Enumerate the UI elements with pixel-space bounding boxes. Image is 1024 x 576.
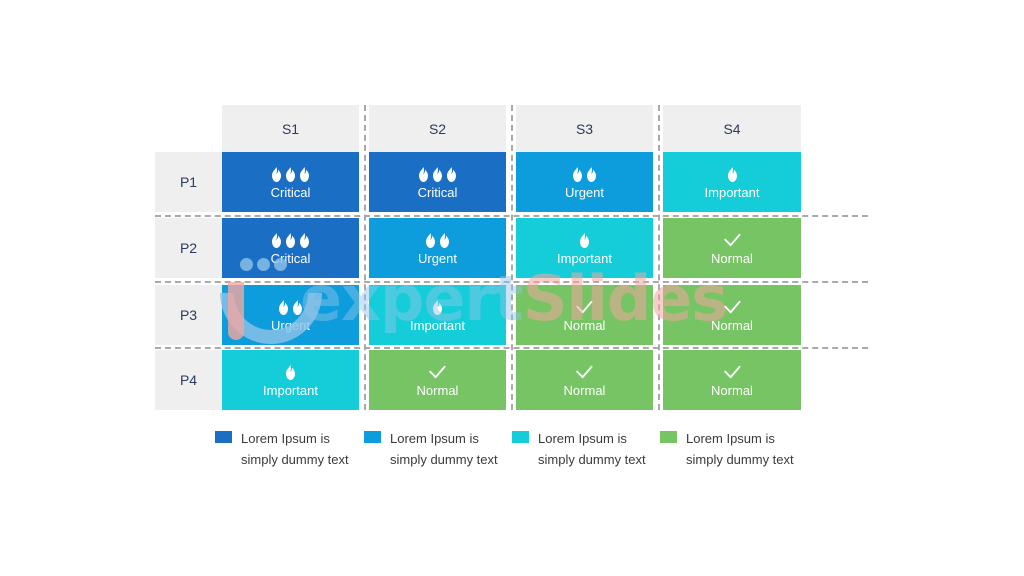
cell-label: Critical	[271, 251, 311, 266]
matrix-cell-p4-s3[interactable]: Normal	[516, 350, 653, 410]
flame-icon-group	[279, 298, 302, 315]
flame-icon	[286, 233, 295, 248]
legend: Lorem Ipsum is simply dummy text Lorem I…	[215, 428, 835, 488]
column-header-s2: S2	[369, 105, 506, 152]
column-header-s3: S3	[516, 105, 653, 152]
cell-label: Important	[705, 185, 760, 200]
cell-label: Urgent	[565, 185, 604, 200]
matrix-cell-p2-s3[interactable]: Important	[516, 218, 653, 278]
cell-label: Urgent	[418, 251, 457, 266]
row-header-p3: P3	[155, 285, 222, 345]
cell-label: Normal	[711, 251, 753, 266]
legend-label: Lorem Ipsum is simply dummy text	[241, 428, 349, 470]
flame-icon	[573, 167, 582, 182]
cell-label: Normal	[564, 383, 606, 398]
flame-icon	[286, 167, 295, 182]
matrix-cell-p3-s4[interactable]: Normal	[663, 285, 801, 345]
flame-icon-group	[580, 231, 589, 248]
flame-icon-group	[419, 165, 456, 182]
flame-icon	[272, 167, 281, 182]
flame-icon	[279, 300, 288, 315]
flame-icon	[580, 233, 589, 248]
matrix-cell-p1-s1[interactable]: Critical	[222, 152, 359, 212]
check-icon	[724, 365, 741, 380]
legend-label: Lorem Ipsum is simply dummy text	[686, 428, 794, 470]
legend-swatch-icon	[512, 431, 529, 443]
legend-item-important[interactable]: Lorem Ipsum is simply dummy text	[512, 428, 646, 470]
flame-icon-group	[728, 165, 737, 182]
legend-item-critical[interactable]: Lorem Ipsum is simply dummy text	[215, 428, 349, 470]
check-icon	[576, 300, 593, 315]
cell-label: Urgent	[271, 318, 310, 333]
matrix-cell-p1-s2[interactable]: Critical	[369, 152, 506, 212]
check-icon-group	[724, 231, 741, 248]
flame-icon-group	[286, 363, 295, 380]
matrix-cell-p1-s4[interactable]: Important	[663, 152, 801, 212]
flame-icon	[447, 167, 456, 182]
row-header-p1: P1	[155, 152, 222, 212]
cell-label: Normal	[711, 318, 753, 333]
matrix-cell-p2-s4[interactable]: Normal	[663, 218, 801, 278]
flame-icon	[433, 300, 442, 315]
row-header-p4: P4	[155, 350, 222, 410]
row-header-p2: P2	[155, 218, 222, 278]
flame-icon	[272, 233, 281, 248]
legend-swatch-icon	[364, 431, 381, 443]
cell-label: Critical	[271, 185, 311, 200]
check-icon-group	[724, 363, 741, 380]
legend-swatch-icon	[660, 431, 677, 443]
cell-label: Normal	[417, 383, 459, 398]
matrix-cell-p4-s1[interactable]: Important	[222, 350, 359, 410]
check-icon	[429, 365, 446, 380]
cell-label: Important	[263, 383, 318, 398]
cell-label: Normal	[711, 383, 753, 398]
flame-icon-group	[272, 231, 309, 248]
flame-icon	[293, 300, 302, 315]
legend-swatch-icon	[215, 431, 232, 443]
column-separator-s2-s3	[511, 105, 513, 410]
flame-icon	[433, 167, 442, 182]
matrix-cell-p3-s3[interactable]: Normal	[516, 285, 653, 345]
matrix-cell-p1-s3[interactable]: Urgent	[516, 152, 653, 212]
priority-severity-matrix: S1 S2 S3 S4 P1 P2 P3 P4 Critical Critica…	[0, 0, 1024, 576]
flame-icon	[587, 167, 596, 182]
legend-label: Lorem Ipsum is simply dummy text	[390, 428, 498, 470]
matrix-cell-p4-s2[interactable]: Normal	[369, 350, 506, 410]
column-header-s4: S4	[663, 105, 801, 152]
flame-icon	[300, 167, 309, 182]
matrix-cell-p2-s1[interactable]: Critical	[222, 218, 359, 278]
check-icon	[576, 365, 593, 380]
flame-icon-group	[573, 165, 596, 182]
column-separator-s1-s2	[364, 105, 366, 410]
matrix-cell-p3-s2[interactable]: Important	[369, 285, 506, 345]
flame-icon	[426, 233, 435, 248]
check-icon	[724, 300, 741, 315]
column-separator-s3-s4	[658, 105, 660, 410]
flame-icon-group	[426, 231, 449, 248]
flame-icon	[286, 365, 295, 380]
flame-icon-group	[433, 298, 442, 315]
matrix-cell-p2-s2[interactable]: Urgent	[369, 218, 506, 278]
cell-label: Critical	[418, 185, 458, 200]
cell-label: Important	[410, 318, 465, 333]
legend-item-urgent[interactable]: Lorem Ipsum is simply dummy text	[364, 428, 498, 470]
column-header-s1: S1	[222, 105, 359, 152]
flame-icon	[440, 233, 449, 248]
check-icon-group	[576, 363, 593, 380]
flame-icon	[419, 167, 428, 182]
check-icon-group	[576, 298, 593, 315]
cell-label: Normal	[564, 318, 606, 333]
check-icon-group	[724, 298, 741, 315]
flame-icon	[728, 167, 737, 182]
legend-item-normal[interactable]: Lorem Ipsum is simply dummy text	[660, 428, 794, 470]
cell-label: Important	[557, 251, 612, 266]
matrix-cell-p4-s4[interactable]: Normal	[663, 350, 801, 410]
legend-label: Lorem Ipsum is simply dummy text	[538, 428, 646, 470]
check-icon	[724, 233, 741, 248]
flame-icon	[300, 233, 309, 248]
flame-icon-group	[272, 165, 309, 182]
check-icon-group	[429, 363, 446, 380]
matrix-cell-p3-s1[interactable]: Urgent	[222, 285, 359, 345]
